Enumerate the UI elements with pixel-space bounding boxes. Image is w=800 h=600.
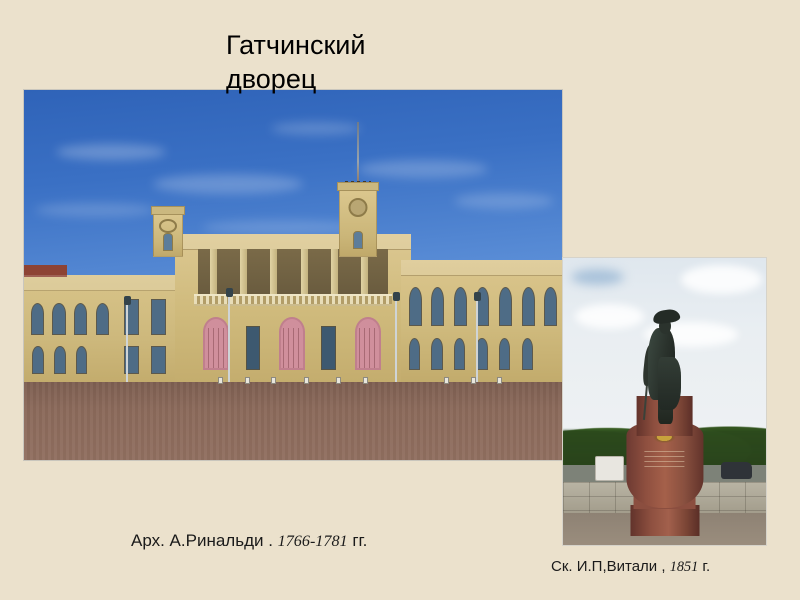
bollard [245, 377, 250, 384]
clock-icon [348, 198, 367, 217]
column [301, 249, 308, 293]
attic-band [24, 275, 191, 291]
lamp-icon [226, 288, 233, 297]
bollard [218, 377, 223, 384]
gatchina-palace-photo[interactable] [23, 89, 563, 461]
column [210, 249, 217, 293]
column [270, 249, 277, 293]
balcony-balustrade [194, 294, 393, 306]
palace-scene [24, 90, 562, 460]
arched-door [279, 317, 305, 370]
cloud-icon [56, 144, 166, 160]
figure-coat [658, 357, 681, 410]
architect-caption: Арх. А.Ринальди . 1766-1781 гг. [131, 529, 491, 554]
monument-scene [563, 258, 766, 545]
tricorn-hat [652, 309, 680, 326]
architect-caption-suffix: гг. [348, 531, 368, 550]
cloud-icon [202, 220, 362, 235]
lamp-post [228, 297, 230, 382]
bollard [444, 377, 449, 384]
bollard [497, 377, 502, 384]
spire-antenna [357, 122, 359, 188]
bus [595, 456, 623, 481]
palace-left-wing [24, 275, 191, 382]
lamp-post [476, 301, 478, 382]
window [409, 338, 420, 370]
lamp-post [395, 301, 397, 382]
window [454, 287, 467, 326]
window [544, 287, 557, 326]
arched-door [203, 317, 229, 370]
tower-cap [337, 182, 379, 191]
lamp-icon [124, 296, 131, 305]
tower-cap [151, 206, 185, 215]
tower-oculus [159, 219, 177, 233]
cloud-icon [358, 160, 488, 178]
sculptor-caption-suffix: г. [698, 558, 710, 575]
palace-left-tower [153, 211, 183, 257]
bollard [336, 377, 341, 384]
bollard [363, 377, 368, 384]
lamp-icon [474, 292, 481, 301]
tower-window [163, 233, 173, 251]
column [240, 249, 247, 293]
plaza-ground [24, 382, 562, 460]
pedestal-inscription [644, 451, 684, 470]
slide-canvas: Гатчинский дворец Арх. А.Ринальди . 1766… [0, 0, 800, 600]
palace-central-block [175, 234, 412, 382]
window [409, 287, 422, 326]
tower-window [353, 231, 363, 249]
bollard [471, 377, 476, 384]
window [54, 346, 66, 374]
column [331, 249, 338, 293]
window [522, 287, 535, 326]
cloud-icon [35, 203, 155, 217]
paul-i-monument-photo[interactable] [562, 257, 767, 546]
lamp-icon [393, 292, 400, 301]
window [74, 303, 87, 335]
attic-band [401, 260, 562, 276]
window [31, 303, 44, 335]
pedestal-base [630, 505, 699, 537]
window [52, 303, 65, 335]
paul-i-bronze-figure [636, 304, 694, 424]
window [151, 346, 166, 374]
architect-caption-date: 1766-1781 [278, 533, 348, 550]
cloud-icon [271, 122, 361, 135]
sculptor-caption-date: 1851 [670, 559, 699, 575]
blue-sky-patch [571, 269, 624, 285]
window [454, 338, 465, 370]
cloud-icon [575, 304, 644, 329]
sculptor-caption: Ск. И.П,Витали , 1851 г. [551, 556, 800, 578]
page-title: Гатчинский дворец [226, 28, 456, 96]
sculptor-caption-text: Ск. И.П,Витали , [551, 558, 670, 575]
cloud-icon [153, 174, 303, 194]
palace-right-wing [401, 260, 562, 382]
window [499, 287, 512, 326]
window [151, 299, 166, 335]
window [246, 326, 260, 370]
cloud-icon [454, 193, 554, 209]
window [32, 346, 44, 374]
bollard [304, 377, 309, 384]
architect-caption-text: Арх. А.Ринальди . [131, 531, 278, 550]
window [321, 326, 335, 370]
window [431, 287, 444, 326]
window [431, 338, 442, 370]
window [522, 338, 533, 370]
window [476, 338, 487, 370]
lamp-post [126, 305, 128, 383]
cloud-icon [681, 265, 762, 293]
arched-door [355, 317, 381, 370]
palace-clock-tower [339, 187, 377, 257]
car [721, 462, 751, 479]
window [96, 303, 109, 335]
window [76, 346, 88, 374]
window [499, 338, 510, 370]
bollard [271, 377, 276, 384]
